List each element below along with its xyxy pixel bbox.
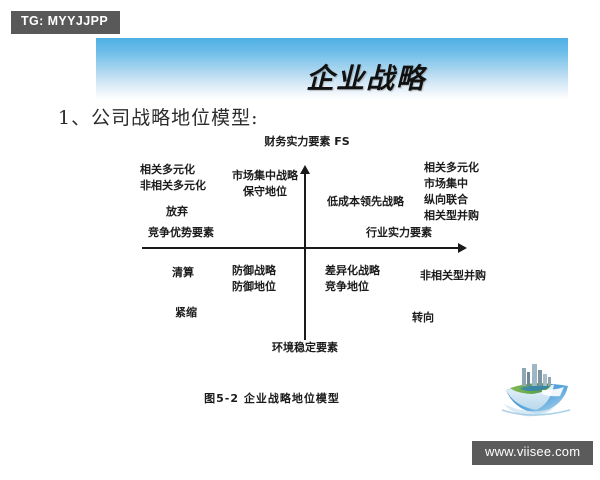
quadrant-top-left-item-1: 非相关多元化 — [140, 178, 206, 194]
quadrant-top-right-center: 低成本领先战略 — [327, 194, 404, 210]
quadrant-top-right-item-1: 市场集中 — [424, 176, 479, 192]
quadrant-bottom-left-center: 防御战略 防御地位 — [232, 263, 276, 295]
quadrant-top-left-item-0: 相关多元化 — [140, 162, 206, 178]
quadrant-top-right-item-0: 相关多元化 — [424, 160, 479, 176]
horizontal-axis — [142, 247, 460, 249]
axis-label-top: 财务实力要素 FS — [255, 134, 359, 150]
quadrant-bottom-left-secondary: 紧缩 — [175, 305, 197, 321]
quadrant-top-left-center-1: 保守地位 — [232, 184, 298, 200]
quadrant-bottom-right-center-1: 竞争地位 — [325, 279, 380, 295]
axis-label-bottom: 环境稳定要素 — [253, 340, 357, 356]
watermark: www.viisee.com — [472, 441, 593, 465]
quadrant-top-right-item-3: 相关型并购 — [424, 208, 479, 224]
quadrant-bottom-right-secondary: 转向 — [412, 310, 434, 326]
page-title: 企业战略 — [130, 57, 600, 97]
quadrant-top-left-center-0: 市场集中战略 — [232, 168, 298, 184]
quadrant-bottom-right-center: 差异化战略 竞争地位 — [325, 263, 380, 295]
slide-canvas: TG: MYYJJPP 企业战略 1、公司战略地位模型: 财务实力要素 FS 环… — [0, 0, 600, 480]
quadrant-bottom-right-item: 非相关型并购 — [420, 268, 486, 284]
quadrant-top-left-center: 市场集中战略 保守地位 — [232, 168, 298, 200]
quadrant-bottom-right-center-0: 差异化战略 — [325, 263, 380, 279]
quadrant-top-right-item-2: 纵向联合 — [424, 192, 479, 208]
axis-label-left: 竞争优势要素 — [148, 225, 214, 241]
quadrant-top-left-items: 相关多元化 非相关多元化 — [140, 162, 206, 194]
quadrant-top-right-items: 相关多元化 市场集中 纵向联合 相关型并购 — [424, 160, 479, 224]
quadrant-bottom-left-primary: 清算 — [172, 265, 194, 281]
horizontal-axis-arrow-icon — [458, 243, 467, 253]
quadrant-top-left-secondary: 放弃 — [166, 204, 188, 220]
quadrant-bottom-left-center-0: 防御战略 — [232, 263, 276, 279]
tg-tag: TG: MYYJJPP — [11, 11, 120, 34]
boat-city-logo-icon — [498, 360, 574, 420]
vertical-axis — [304, 172, 306, 340]
section-subtitle: 1、公司战略地位模型: — [58, 103, 259, 130]
vertical-axis-arrow-icon — [300, 165, 310, 174]
figure-caption: 图5-2 企业战略地位模型 — [0, 390, 572, 406]
quadrant-bottom-left-center-1: 防御地位 — [232, 279, 276, 295]
axis-label-right: 行业实力要素 — [366, 225, 432, 241]
